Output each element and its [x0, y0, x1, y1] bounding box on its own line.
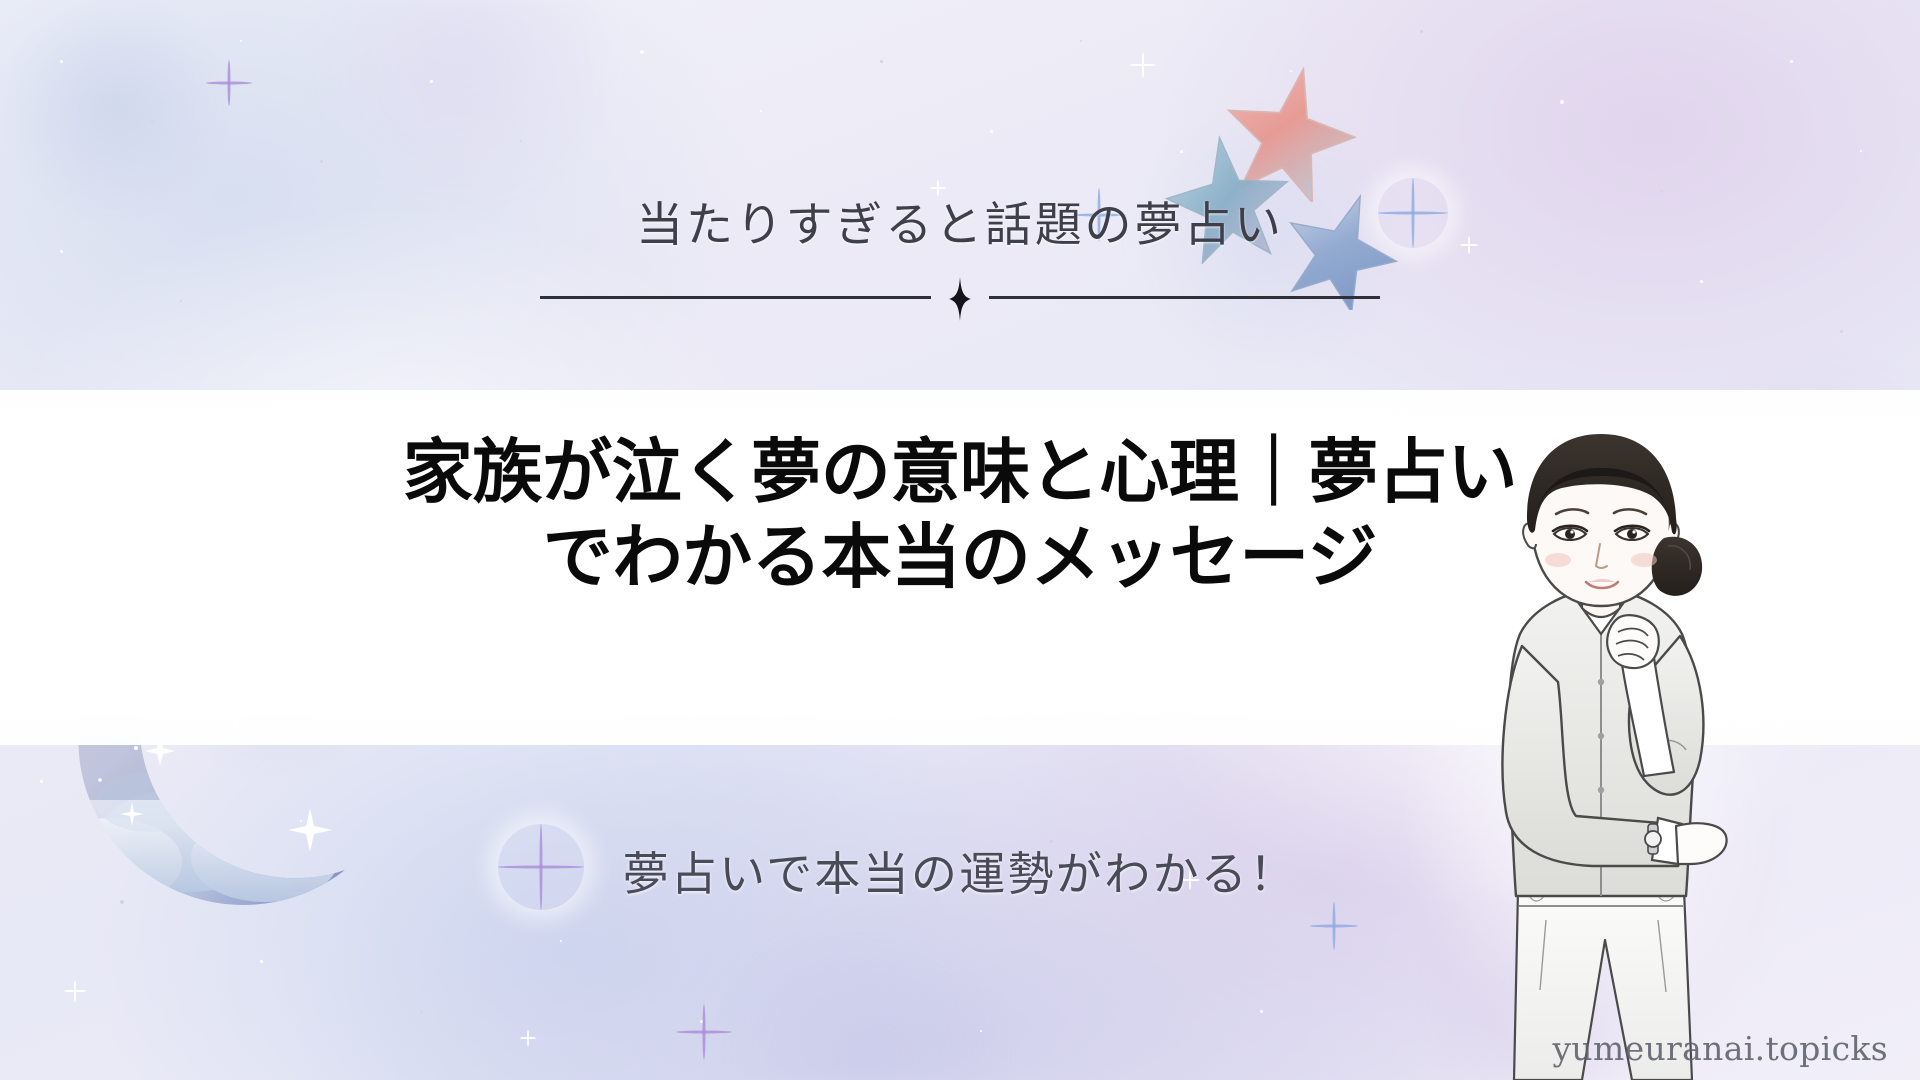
sparkle-icon — [520, 1030, 536, 1046]
sparkle-icon — [1130, 52, 1156, 78]
eyebrow-section: 当たりすぎると話題の夢占い — [0, 198, 1920, 314]
site-watermark: yumeuranai.topicks — [1552, 1029, 1888, 1068]
eyebrow-text: 当たりすぎると話題の夢占い — [0, 198, 1920, 254]
star-burst-icon — [676, 1004, 732, 1060]
divider-line-left — [540, 296, 931, 299]
sparkle-icon — [64, 980, 86, 1002]
woman-thinking-illustration — [1386, 420, 1816, 1080]
four-point-star-icon — [949, 277, 971, 317]
sparkle-icon — [930, 180, 946, 196]
divider-line-right — [989, 296, 1380, 299]
star-burst-icon — [206, 60, 252, 106]
ornamental-divider — [540, 280, 1380, 314]
poster-canvas: 当たりすぎると話題の夢占い 家族が泣く夢の意味と心理｜夢占い でわかる本当のメッ… — [0, 0, 1920, 1080]
